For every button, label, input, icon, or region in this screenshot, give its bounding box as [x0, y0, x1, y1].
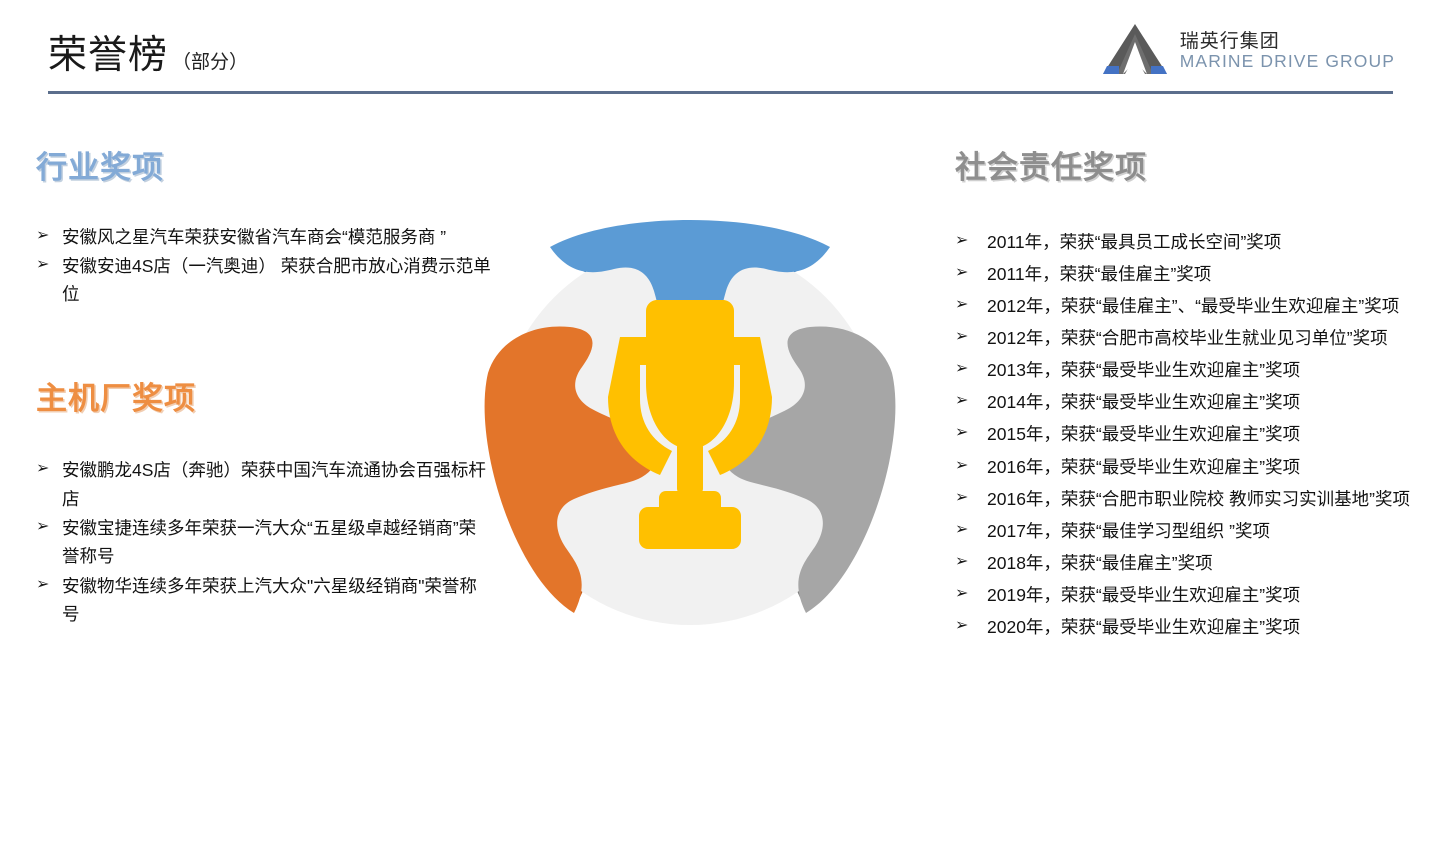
- list-item-text: 2016年，荣获“最受毕业生欢迎雇主”奖项: [987, 457, 1300, 477]
- list-item: ➢ 2013年，荣获“最受毕业生欢迎雇主”奖项: [955, 355, 1425, 386]
- list-item-text: 安徽鹏龙4S店（奔驰）荣获中国汽车流通协会百强标杆店: [62, 460, 486, 508]
- list-item-text: 安徽安迪4S店（一汽奥迪） 荣获合肥市放心消费示范单位: [62, 256, 491, 304]
- bullet-arrow-icon: ➢: [955, 516, 968, 544]
- list-item: ➢ 2016年，荣获“合肥市职业院校 教师实习实训基地”奖项: [955, 484, 1425, 515]
- bullet-arrow-icon: ➢: [36, 252, 49, 278]
- bullet-arrow-icon: ➢: [955, 612, 968, 640]
- bullet-arrow-icon: ➢: [955, 355, 968, 383]
- list-item: ➢ 安徽风之星汽车荣获安徽省汽车商会“模范服务商 ”: [36, 223, 491, 251]
- page-title: 荣誉榜 （部分）: [48, 36, 248, 75]
- right-column: 社会责任奖项 ➢ 2011年，荣获“最具员工成长空间”奖项 ➢ 2011年，荣获…: [955, 150, 1425, 644]
- list-item: ➢ 安徽鹏龙4S店（奔驰）荣获中国汽车流通协会百强标杆店: [36, 456, 491, 513]
- trophy-teamwork-circle-icon: [470, 205, 910, 655]
- section-industry-awards: 行业奖项 ➢ 安徽风之星汽车荣获安徽省汽车商会“模范服务商 ” ➢ 安徽安迪4S…: [36, 150, 491, 309]
- list-item: ➢ 2016年，荣获“最受毕业生欢迎雇主”奖项: [955, 452, 1425, 483]
- list-item: ➢ 2012年，荣获“合肥市高校毕业生就业见习单位”奖项: [955, 323, 1425, 354]
- list-item: ➢ 2018年，荣获“最佳雇主”奖项: [955, 548, 1425, 579]
- list-item-text: 2020年，荣获“最受毕业生欢迎雇主”奖项: [987, 617, 1300, 637]
- bullet-arrow-icon: ➢: [955, 548, 968, 576]
- list-item: ➢ 2014年，荣获“最受毕业生欢迎雇主”奖项: [955, 387, 1425, 418]
- bullet-arrow-icon: ➢: [955, 323, 968, 351]
- list-item-text: 安徽风之星汽车荣获安徽省汽车商会“模范服务商 ”: [62, 227, 446, 247]
- list-item-text: 2018年，荣获“最佳雇主”奖项: [987, 553, 1213, 573]
- list-item: ➢ 2020年，荣获“最受毕业生欢迎雇主”奖项: [955, 612, 1425, 643]
- company-logo: 瑞英行集团 MARINE DRIVE GROUP: [1101, 22, 1395, 80]
- list-item-text: 安徽物华连续多年荣获上汽大众"六星级经销商"荣誉称号: [62, 576, 477, 624]
- logo-name-cn: 瑞英行集团: [1180, 31, 1395, 52]
- bullet-arrow-icon: ➢: [955, 291, 968, 319]
- list-item: ➢ 2015年，荣获“最受毕业生欢迎雇主”奖项: [955, 419, 1425, 450]
- logo-text: 瑞英行集团 MARINE DRIVE GROUP: [1180, 31, 1395, 72]
- list-item: ➢ 2017年，荣获“最佳学习型组织 ”奖项: [955, 516, 1425, 547]
- list-item-text: 2019年，荣获“最受毕业生欢迎雇主”奖项: [987, 585, 1300, 605]
- list-industry-awards: ➢ 安徽风之星汽车荣获安徽省汽车商会“模范服务商 ” ➢ 安徽安迪4S店（一汽奥…: [36, 223, 491, 309]
- list-item: ➢ 2011年，荣获“最具员工成长空间”奖项: [955, 227, 1425, 258]
- bullet-arrow-icon: ➢: [955, 419, 968, 447]
- list-social-responsibility-awards: ➢ 2011年，荣获“最具员工成长空间”奖项 ➢ 2011年，荣获“最佳雇主”奖…: [955, 227, 1425, 644]
- left-column: 行业奖项 ➢ 安徽风之星汽车荣获安徽省汽车商会“模范服务商 ” ➢ 安徽安迪4S…: [36, 150, 491, 629]
- list-item-text: 2012年，荣获“合肥市高校毕业生就业见习单位”奖项: [987, 328, 1388, 348]
- list-item: ➢ 安徽宝捷连续多年荣获一汽大众“五星级卓越经销商”荣誉称号: [36, 514, 491, 571]
- bullet-arrow-icon: ➢: [955, 484, 968, 512]
- list-item: ➢ 2011年，荣获“最佳雇主”奖项: [955, 259, 1425, 290]
- list-item: ➢ 安徽物华连续多年荣获上汽大众"六星级经销商"荣誉称号: [36, 572, 491, 629]
- bullet-arrow-icon: ➢: [36, 572, 49, 598]
- section-oem-awards: 主机厂奖项 ➢ 安徽鹏龙4S店（奔驰）荣获中国汽车流通协会百强标杆店 ➢ 安徽宝…: [36, 381, 491, 629]
- list-item: ➢ 2012年，荣获“最佳雇主”、“最受毕业生欢迎雇主”奖项: [955, 291, 1425, 322]
- list-item-text: 2015年，荣获“最受毕业生欢迎雇主”奖项: [987, 424, 1300, 444]
- title-divider: [48, 91, 1393, 94]
- page-title-sub: （部分）: [172, 53, 248, 72]
- bullet-arrow-icon: ➢: [36, 514, 49, 540]
- list-item-text: 安徽宝捷连续多年荣获一汽大众“五星级卓越经销商”荣誉称号: [62, 518, 476, 566]
- list-item-text: 2011年，荣获“最佳雇主”奖项: [987, 264, 1211, 284]
- list-item-text: 2012年，荣获“最佳雇主”、“最受毕业生欢迎雇主”奖项: [987, 296, 1399, 316]
- list-item: ➢ 安徽安迪4S店（一汽奥迪） 荣获合肥市放心消费示范单位: [36, 252, 491, 309]
- section-heading-social-responsibility-awards: 社会责任奖项: [955, 150, 1425, 187]
- logo-name-en: MARINE DRIVE GROUP: [1180, 52, 1395, 72]
- page-title-main: 荣誉榜: [48, 36, 168, 75]
- list-item: ➢ 2019年，荣获“最受毕业生欢迎雇主”奖项: [955, 580, 1425, 611]
- bullet-arrow-icon: ➢: [36, 223, 49, 249]
- bullet-arrow-icon: ➢: [955, 387, 968, 415]
- mountain-arrow-logo-icon: [1101, 22, 1169, 80]
- list-oem-awards: ➢ 安徽鹏龙4S店（奔驰）荣获中国汽车流通协会百强标杆店 ➢ 安徽宝捷连续多年荣…: [36, 456, 491, 628]
- bullet-arrow-icon: ➢: [955, 227, 968, 255]
- list-item-text: 2017年，荣获“最佳学习型组织 ”奖项: [987, 521, 1270, 541]
- page-header: 荣誉榜 （部分） 瑞英行集团 MARINE DRIVE GROUP: [0, 0, 1440, 100]
- list-item-text: 2011年，荣获“最具员工成长空间”奖项: [987, 232, 1281, 252]
- list-item-text: 2013年，荣获“最受毕业生欢迎雇主”奖项: [987, 360, 1300, 380]
- bullet-arrow-icon: ➢: [955, 580, 968, 608]
- bullet-arrow-icon: ➢: [955, 259, 968, 287]
- section-heading-industry-awards: 行业奖项: [36, 150, 491, 187]
- list-item-text: 2014年，荣获“最受毕业生欢迎雇主”奖项: [987, 392, 1300, 412]
- bullet-arrow-icon: ➢: [955, 452, 968, 480]
- section-heading-oem-awards: 主机厂奖项: [36, 381, 491, 418]
- bullet-arrow-icon: ➢: [36, 456, 49, 482]
- list-item-text: 2016年，荣获“合肥市职业院校 教师实习实训基地”奖项: [987, 489, 1410, 509]
